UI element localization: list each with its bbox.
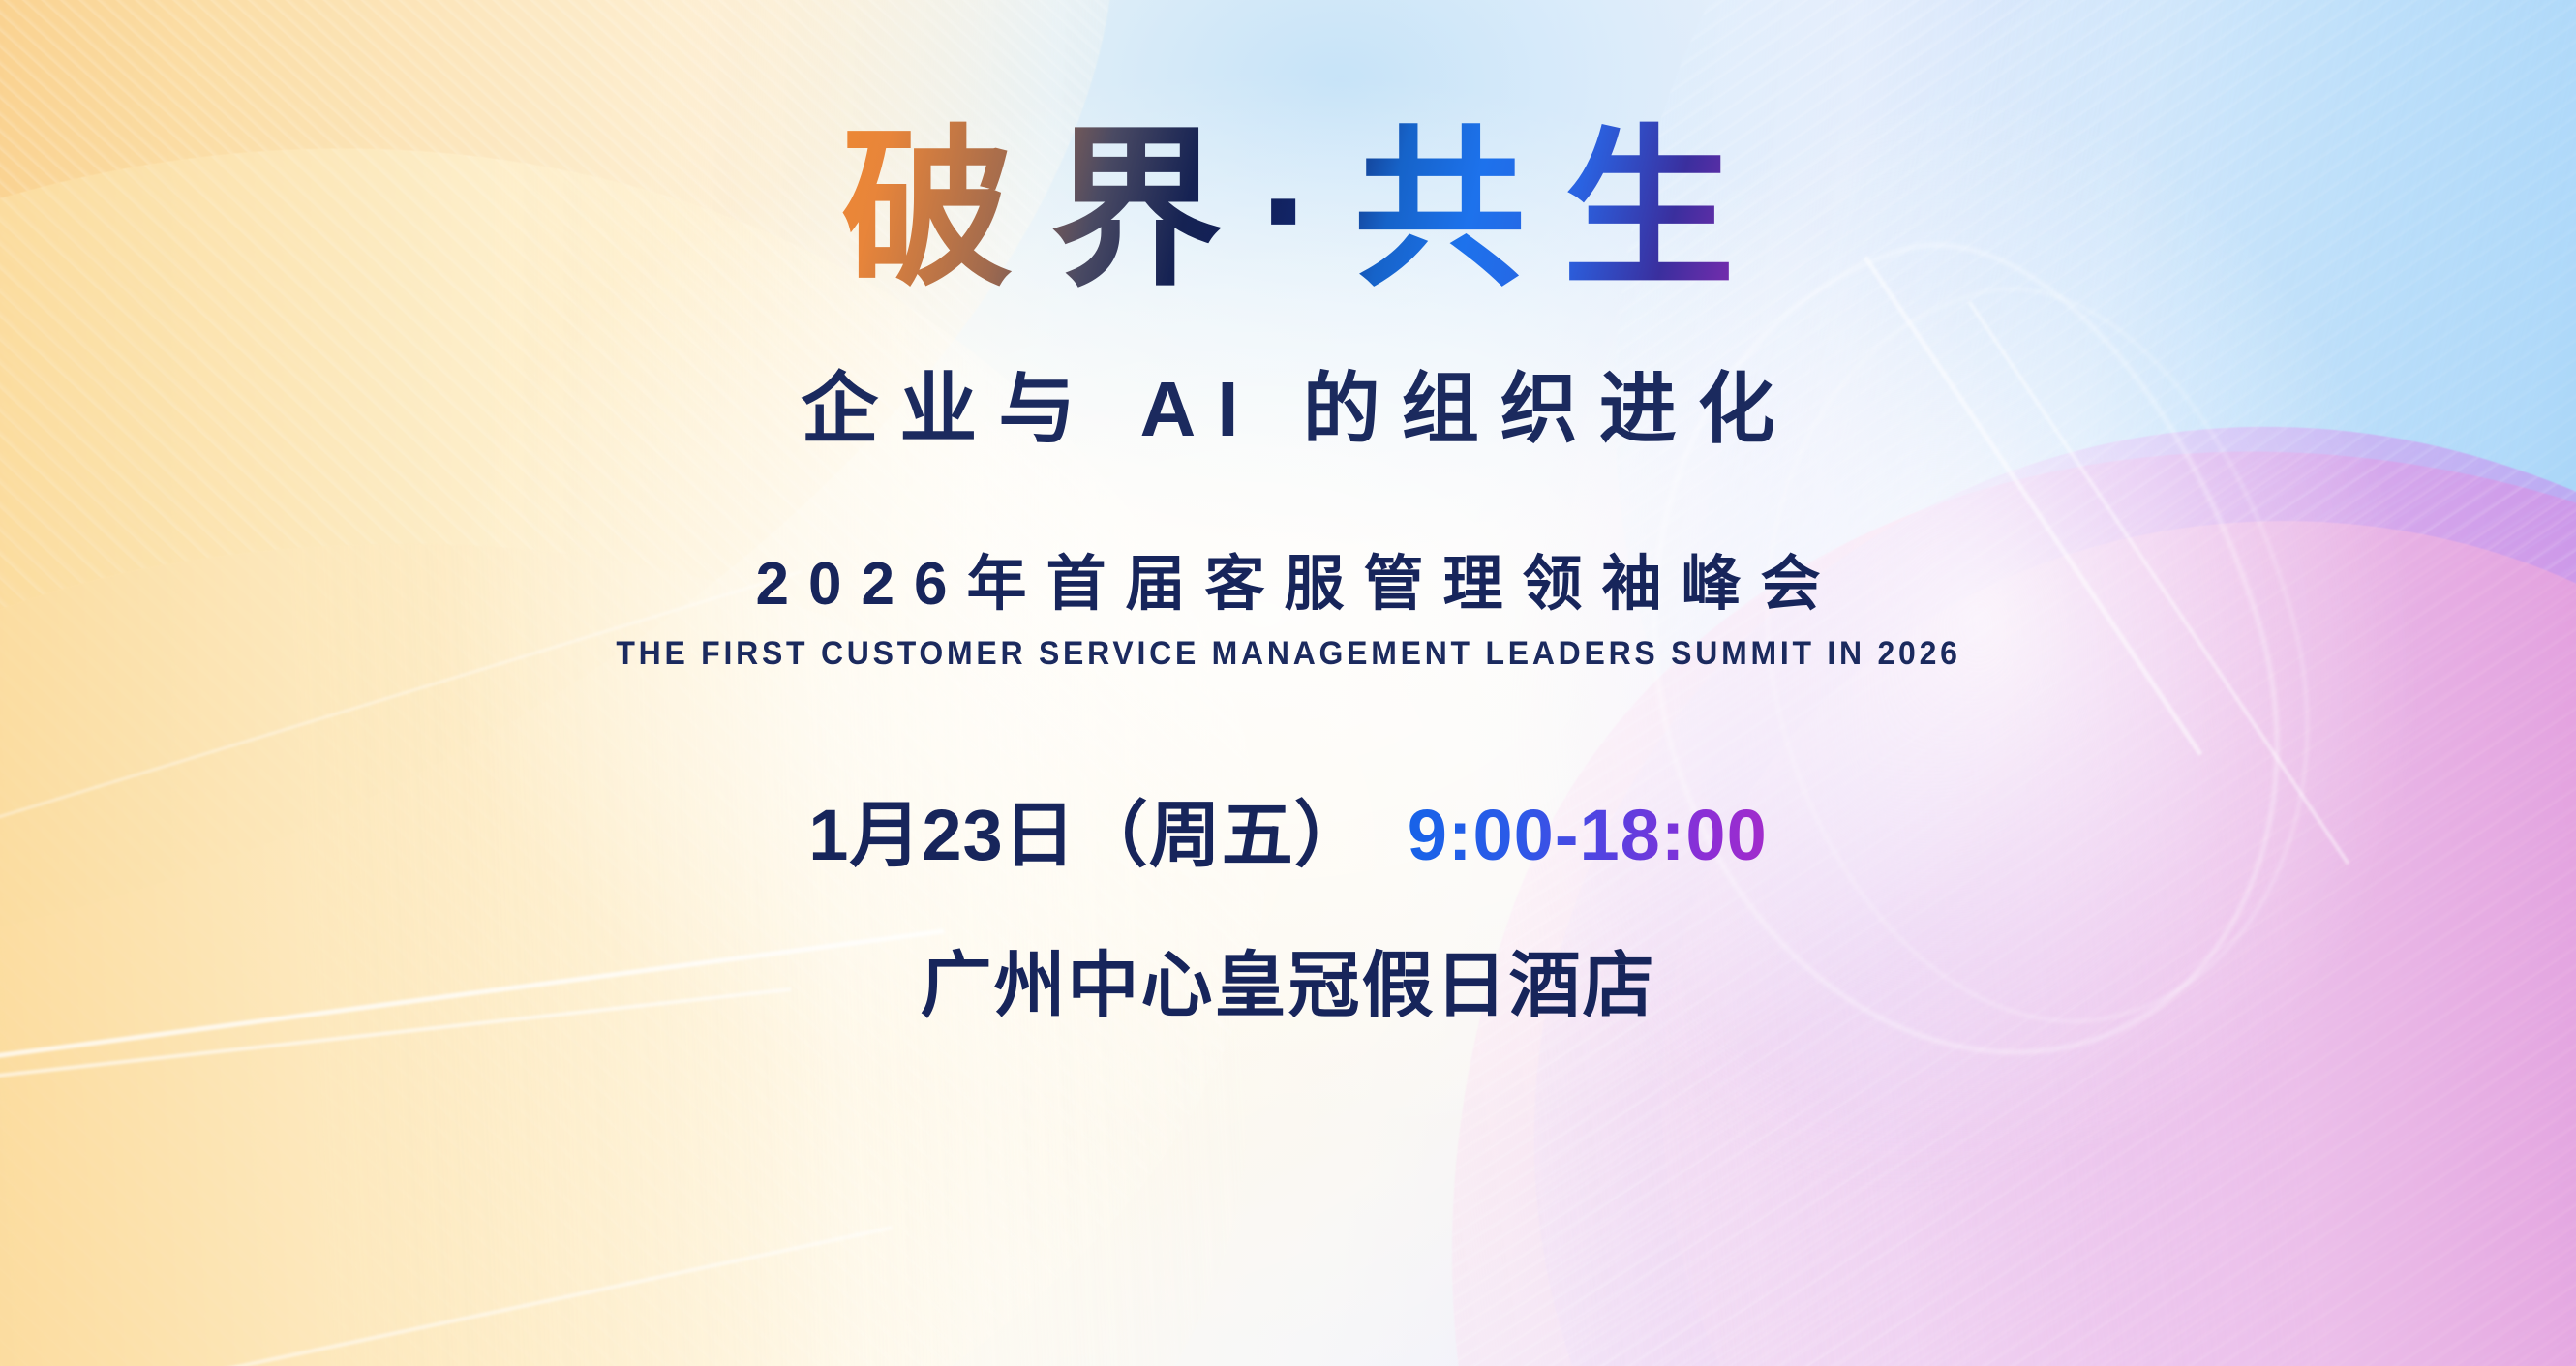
event-date: 1月23日（周五） [808,777,1366,881]
poster-content: 破界·共生 企业与 AI 的组织进化 2026年首届客服管理领袖峰会 THE F… [0,0,2576,1366]
event-time: 9:00-18:00 [1408,794,1768,876]
main-title: 破界·共生 [804,108,1772,312]
event-poster: 破界·共生 企业与 AI 的组织进化 2026年首届客服管理领袖峰会 THE F… [0,0,2576,1366]
event-venue: 广州中心皇冠假日酒店 [921,927,1656,1031]
date-time-row: 1月23日（周五） 9:00-18:00 [808,777,1767,881]
conference-name-en: THE FIRST CUSTOMER SERVICE MANAGEMENT LE… [616,635,1960,673]
sub-title: 企业与 AI 的组织进化 [779,347,1796,459]
conference-name-cn: 2026年首届客服管理领袖峰会 [737,534,1840,622]
